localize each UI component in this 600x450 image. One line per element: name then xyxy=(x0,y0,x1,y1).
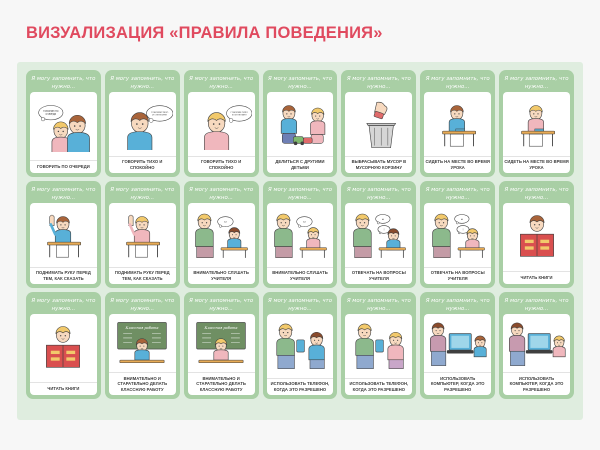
rule-illustration-boy-raising-hand xyxy=(30,203,97,267)
rule-card-slushat-uchitelya-1[interactable]: Я могу запомнить, что нужно... ы ВНИМАТЕ… xyxy=(184,181,259,288)
rule-card-body: СИДЕТЬ НА МЕСТЕ ВО ВРЕМЯ УРОКА xyxy=(503,92,570,173)
rule-card-otvechat-na-voprosy-2[interactable]: Я могу запомнить, что нужно... ы ! ОТВЕЧ… xyxy=(420,181,495,288)
rule-card-body: ы ! ОТВЕЧАТЬ НА ВОПРОСЫ УЧИТЕЛЯ xyxy=(345,203,412,284)
svg-text:ы: ы xyxy=(224,219,226,223)
rule-card-body: ЧИТАТЬ КНИГИ xyxy=(503,203,570,284)
rule-card-body: ы ВНИМАТЕЛЬНО СЛУШАТЬ УЧИТЕЛЯ xyxy=(188,203,255,284)
rule-card-caption: ГОВОРИТЬ ТИХО И СПОКОЙНО xyxy=(109,156,176,173)
rule-card-caption: ЧИТАТЬ КНИГИ xyxy=(503,271,570,284)
rule-card-header: Я могу запомнить, что нужно... xyxy=(345,75,412,92)
rule-card-header: Я могу запомнить, что нужно... xyxy=(503,75,570,92)
rule-illustration-teacher-girl-listen: ы xyxy=(267,203,334,267)
rule-card-telefon-1[interactable]: Я могу запомнить, что нужно... ИСПОЛЬЗОВ… xyxy=(263,292,338,399)
rule-card-caption: ГОВОРИТЬ ТИХО И СПОКОЙНО xyxy=(188,156,255,173)
rule-illustration-girl-raising-hand xyxy=(109,203,176,267)
rule-card-body: ы ВНИМАТЕЛЬНО СЛУШАТЬ УЧИТЕЛЯ xyxy=(267,203,334,284)
cards-grid: Я могу запомнить, что нужно... ГОВОРИМ П… xyxy=(26,70,574,399)
rule-illustration-adult-gives-phone-boy xyxy=(267,314,334,378)
cards-board: Я могу запомнить, что нужно... ГОВОРИМ П… xyxy=(17,62,583,420)
poster-page: ВИЗУАЛИЗАЦИЯ «ПРАВИЛА ПОВЕДЕНИЯ» Я могу … xyxy=(0,0,600,450)
rule-card-body: ВЫБРАСЫВАТЬ МУСОР В МУСОРНУЮ КОРЗИНУ xyxy=(345,92,412,173)
rule-card-caption: ВНИМАТЕЛЬНО СЛУШАТЬ УЧИТЕЛЯ xyxy=(267,267,334,284)
rule-card-header: Я могу запомнить, что нужно... xyxy=(188,186,255,203)
rule-card-caption: ИСПОЛЬЗОВАТЬ ТЕЛЕФОН, КОГДА ЭТО РАЗРЕШЕН… xyxy=(345,378,412,395)
rule-card-caption: ИСПОЛЬЗОВАТЬ КОМПЬЮТЕР, КОГДА ЭТО РАЗРЕШ… xyxy=(424,372,491,395)
rule-card-header: Я могу запомнить, что нужно... xyxy=(345,297,412,314)
rule-card-chitat-knigi-1[interactable]: Я могу запомнить, что нужно... ЧИТАТЬ КН… xyxy=(499,181,574,288)
rule-illustration-hand-trash-bin xyxy=(345,92,412,156)
rule-card-caption: ВНИМАТЕЛЬНО И СТАРАТЕЛЬНО ДЕЛАТЬ КЛАССНУ… xyxy=(109,372,176,395)
rule-card-body: ИСПОЛЬЗОВАТЬ КОМПЬЮТЕР, КОГДА ЭТО РАЗРЕШ… xyxy=(503,314,570,395)
rule-card-caption: ВНИМАТЕЛЬНО СЛУШАТЬ УЧИТЕЛЯ xyxy=(188,267,255,284)
rule-card-header: Я могу запомнить, что нужно... xyxy=(267,186,334,203)
rule-card-klassnaya-rabota-2[interactable]: Я могу запомнить, что нужно... Классная … xyxy=(184,292,259,399)
rule-card-kompyuter-2[interactable]: Я могу запомнить, что нужно... ИСПОЛЬЗОВ… xyxy=(499,292,574,399)
rule-card-body: ДЕЛИТЬСЯ С ДРУГИМИ ДЕТЬМИ xyxy=(267,92,334,173)
rule-card-klassnaya-rabota-1[interactable]: Я могу запомнить, что нужно... Классная … xyxy=(105,292,180,399)
rule-card-slushat-uchitelya-2[interactable]: Я могу запомнить, что нужно... ы ВНИМАТЕ… xyxy=(263,181,338,288)
rule-card-govorit-tiho-1[interactable]: Я могу запомнить, что нужно... ГОВОРИМ Т… xyxy=(105,70,180,177)
rule-illustration-teacher-girl-answer: ы ! xyxy=(424,203,491,267)
rule-card-header: Я могу запомнить, что нужно... xyxy=(109,297,176,314)
rule-illustration-children-sharing-toys xyxy=(267,92,334,156)
rule-card-header: Я могу запомнить, что нужно... xyxy=(30,186,97,203)
rule-card-body: ы ! ОТВЕЧАТЬ НА ВОПРОСЫ УЧИТЕЛЯ xyxy=(424,203,491,284)
rule-card-header: Я могу запомнить, что нужно... xyxy=(109,186,176,203)
rule-card-sidet-na-meste-2[interactable]: Я могу запомнить, что нужно... СИДЕТЬ НА… xyxy=(499,70,574,177)
rule-card-body: ГОВОРИМ ПООЧЕРЕДИ ГОВОРИТЬ ПО ОЧЕРЕДИ xyxy=(30,92,97,173)
rule-card-header: Я могу запомнить, что нужно... xyxy=(267,75,334,92)
svg-text:ы: ы xyxy=(461,218,463,221)
rule-card-caption: ВЫБРАСЫВАТЬ МУСОР В МУСОРНУЮ КОРЗИНУ xyxy=(345,156,412,173)
rule-card-caption: ГОВОРИТЬ ПО ОЧЕРЕДИ xyxy=(30,160,97,173)
svg-text:И СПОКОЙНО: И СПОКОЙНО xyxy=(153,113,168,116)
rule-card-body: ИСПОЛЬЗОВАТЬ ТЕЛЕФОН, КОГДА ЭТО РАЗРЕШЕН… xyxy=(267,314,334,395)
rule-card-kompyuter-1[interactable]: Я могу запомнить, что нужно... ИСПОЛЬЗОВ… xyxy=(420,292,495,399)
rule-card-govorit-po-ocheredi[interactable]: Я могу запомнить, что нужно... ГОВОРИМ П… xyxy=(26,70,101,177)
rule-card-body: ГОВОРИМ ТИХОИ СПОКОЙНО ГОВОРИТЬ ТИХО И С… xyxy=(188,92,255,173)
rule-illustration-girl-quiet-speech: ГОВОРИМ ТИХОИ СПОКОЙНО xyxy=(188,92,255,156)
rule-card-body: Классная работа ВНИМАТЕЛЬНО И СТАРАТЕЛЬН… xyxy=(188,314,255,395)
rule-card-body: ИСПОЛЬЗОВАТЬ ТЕЛЕФОН, КОГДА ЭТО РАЗРЕШЕН… xyxy=(345,314,412,395)
svg-text:Классная работа: Классная работа xyxy=(125,326,159,330)
rule-illustration-girl-blackboard-work: Классная работа xyxy=(188,314,255,372)
rule-illustration-boy-quiet-speech: ГОВОРИМ ТИХОИ СПОКОЙНО xyxy=(109,92,176,156)
rule-card-body: СИДЕТЬ НА МЕСТЕ ВО ВРЕМЯ УРОКА xyxy=(424,92,491,173)
rule-card-delitsya-s-detmi[interactable]: Я могу запомнить, что нужно... ДЕЛИТЬСЯ … xyxy=(263,70,338,177)
rule-card-caption: СИДЕТЬ НА МЕСТЕ ВО ВРЕМЯ УРОКА xyxy=(424,156,491,173)
rule-illustration-adult-gives-phone-girl xyxy=(345,314,412,378)
rule-card-header: Я могу запомнить, что нужно... xyxy=(30,75,97,92)
rule-card-header: Я могу запомнить, что нужно... xyxy=(188,75,255,92)
rule-card-header: Я могу запомнить, что нужно... xyxy=(267,297,334,314)
rule-card-header: Я могу запомнить, что нужно... xyxy=(30,297,97,314)
rule-card-header: Я могу запомнить, что нужно... xyxy=(424,75,491,92)
rule-card-body: ГОВОРИМ ТИХОИ СПОКОЙНО ГОВОРИТЬ ТИХО И С… xyxy=(109,92,176,173)
svg-text:И СПОКОЙНО: И СПОКОЙНО xyxy=(232,113,247,116)
svg-text:ы: ы xyxy=(303,219,305,223)
rule-card-body: Классная работа ВНИМАТЕЛЬНО И СТАРАТЕЛЬН… xyxy=(109,314,176,395)
rule-card-vybrasyvat-musor[interactable]: Я могу запомнить, что нужно... ВЫБРАСЫВА… xyxy=(341,70,416,177)
rule-card-caption: ИСПОЛЬЗОВАТЬ КОМПЬЮТЕР, КОГДА ЭТО РАЗРЕШ… xyxy=(503,372,570,395)
rule-card-header: Я могу запомнить, что нужно... xyxy=(503,297,570,314)
rule-illustration-teacher-boy-listen: ы xyxy=(188,203,255,267)
rule-card-podnimat-ruku-1[interactable]: Я могу запомнить, что нужно... ПОДНИМАТЬ… xyxy=(26,181,101,288)
rule-card-body: ПОДНИМАТЬ РУКУ ПЕРЕД ТЕМ, КАК СКАЗАТЬ xyxy=(30,203,97,284)
svg-text:ОЧЕРЕДИ: ОЧЕРЕДИ xyxy=(46,113,57,116)
rule-card-caption: ДЕЛИТЬСЯ С ДРУГИМИ ДЕТЬМИ xyxy=(267,156,334,173)
svg-text:!: ! xyxy=(462,227,463,231)
rule-illustration-two-children-speech: ГОВОРИМ ПООЧЕРЕДИ xyxy=(30,92,97,160)
rule-card-chitat-knigi-2[interactable]: Я могу запомнить, что нужно... ЧИТАТЬ КН… xyxy=(26,292,101,399)
rule-card-header: Я могу запомнить, что нужно... xyxy=(188,297,255,314)
rule-card-header: Я могу запомнить, что нужно... xyxy=(424,186,491,203)
rule-illustration-boy-blackboard-work: Классная работа xyxy=(109,314,176,372)
svg-text:!: ! xyxy=(383,227,384,231)
rule-card-header: Я могу запомнить, что нужно... xyxy=(345,186,412,203)
rule-illustration-adult-computer-boy xyxy=(424,314,491,372)
rule-card-telefon-2[interactable]: Я могу запомнить, что нужно... ИСПОЛЬЗОВ… xyxy=(341,292,416,399)
rule-card-caption: СИДЕТЬ НА МЕСТЕ ВО ВРЕМЯ УРОКА xyxy=(503,156,570,173)
rule-card-body: ЧИТАТЬ КНИГИ xyxy=(30,314,97,395)
rule-card-header: Я могу запомнить, что нужно... xyxy=(109,75,176,92)
rule-card-header: Я могу запомнить, что нужно... xyxy=(424,297,491,314)
rule-card-caption: ОТВЕЧАТЬ НА ВОПРОСЫ УЧИТЕЛЯ xyxy=(424,267,491,284)
svg-text:ы: ы xyxy=(382,218,384,221)
rule-card-caption: ВНИМАТЕЛЬНО И СТАРАТЕЛЬНО ДЕЛАТЬ КЛАССНУ… xyxy=(188,372,255,395)
rule-illustration-teacher-boy-answer: ы ! xyxy=(345,203,412,267)
rule-illustration-girl-at-desk xyxy=(503,92,570,156)
rule-card-caption: ЧИТАТЬ КНИГИ xyxy=(30,382,97,395)
page-title: ВИЗУАЛИЗАЦИЯ «ПРАВИЛА ПОВЕДЕНИЯ» xyxy=(26,24,383,43)
svg-text:Классная работа: Классная работа xyxy=(204,326,238,330)
rule-card-caption: ПОДНИМАТЬ РУКУ ПЕРЕД ТЕМ, КАК СКАЗАТЬ xyxy=(109,267,176,284)
rule-card-body: ПОДНИМАТЬ РУКУ ПЕРЕД ТЕМ, КАК СКАЗАТЬ xyxy=(109,203,176,284)
rule-illustration-adult-computer-girl xyxy=(503,314,570,372)
rule-card-sidet-na-meste-1[interactable]: Я могу запомнить, что нужно... СИДЕТЬ НА… xyxy=(420,70,495,177)
rule-card-header: Я могу запомнить, что нужно... xyxy=(503,186,570,203)
rule-illustration-boy-at-desk xyxy=(424,92,491,156)
rule-illustration-girl-reading-book xyxy=(30,314,97,382)
rule-card-caption: ОТВЕЧАТЬ НА ВОПРОСЫ УЧИТЕЛЯ xyxy=(345,267,412,284)
rule-card-otvechat-na-voprosy-1[interactable]: Я могу запомнить, что нужно... ы ! ОТВЕЧ… xyxy=(341,181,416,288)
rule-illustration-boy-reading-book xyxy=(503,203,570,271)
rule-card-podnimat-ruku-2[interactable]: Я могу запомнить, что нужно... ПОДНИМАТЬ… xyxy=(105,181,180,288)
rule-card-caption: ПОДНИМАТЬ РУКУ ПЕРЕД ТЕМ, КАК СКАЗАТЬ xyxy=(30,267,97,284)
rule-card-govorit-tiho-2[interactable]: Я могу запомнить, что нужно... ГОВОРИМ Т… xyxy=(184,70,259,177)
rule-card-caption: ИСПОЛЬЗОВАТЬ ТЕЛЕФОН, КОГДА ЭТО РАЗРЕШЕН… xyxy=(267,378,334,395)
rule-card-body: ИСПОЛЬЗОВАТЬ КОМПЬЮТЕР, КОГДА ЭТО РАЗРЕШ… xyxy=(424,314,491,395)
